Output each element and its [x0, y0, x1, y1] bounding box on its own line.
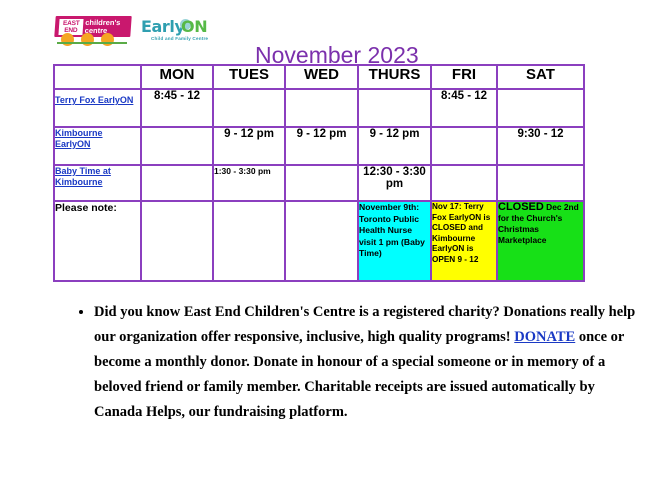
- cell-babytime-sat: [497, 165, 584, 201]
- cell-kimbourne-wed: 9 - 12 pm: [285, 127, 358, 165]
- table-row-notes: Please note: November 9th: Toronto Publi…: [54, 201, 584, 281]
- east-end-childrens-centre-logo: EAST END children's centre: [55, 16, 131, 46]
- logo-dot-icon: [101, 33, 114, 46]
- donate-link[interactable]: DONATE: [514, 329, 575, 345]
- logo-dot-icon: [81, 33, 94, 46]
- program-label-terry-fox: Terry Fox EarlyON: [54, 89, 141, 127]
- cell-terryfox-mon: 8:45 - 12: [141, 89, 213, 127]
- earlyon-on-text: ON: [181, 17, 207, 36]
- cell-babytime-mon: [141, 165, 213, 201]
- cell-note-mon: [141, 201, 213, 281]
- column-header-tues: TUES: [213, 65, 285, 89]
- cell-kimbourne-tues: 9 - 12 pm: [213, 127, 285, 165]
- cell-terryfox-fri: 8:45 - 12: [431, 89, 497, 127]
- program-link-terry-fox[interactable]: Terry Fox EarlyON: [55, 95, 133, 106]
- calendar-container: MON TUES WED THURS FRI SAT Terry Fox Ear…: [53, 64, 583, 282]
- earlyon-early-text: Early: [141, 17, 185, 36]
- column-header-fri: FRI: [431, 65, 497, 89]
- cell-kimbourne-thurs: 9 - 12 pm: [358, 127, 431, 165]
- earlyon-logo: Early ON Child and Family Centre: [141, 16, 219, 46]
- program-label-kimbourne: Kimbourne EarlyON: [54, 127, 141, 165]
- column-header-sat: SAT: [497, 65, 584, 89]
- cell-babytime-wed: [285, 165, 358, 201]
- cell-terryfox-thurs: [358, 89, 431, 127]
- please-note-label: Please note:: [54, 201, 141, 281]
- bullet-list: Did you know East End Children's Centre …: [72, 300, 642, 425]
- cell-babytime-fri: [431, 165, 497, 201]
- table-row: Baby Time at Kimbourne 1:30 - 3:30 pm 12…: [54, 165, 584, 201]
- note-health-nurse-visit: November 9th: Toronto Public Health Nurs…: [358, 201, 431, 281]
- cell-note-wed: [285, 201, 358, 281]
- list-item: Did you know East End Children's Centre …: [94, 300, 642, 425]
- program-label-baby-time: Baby Time at Kimbourne: [54, 165, 141, 201]
- logo-group: EAST END children's centre Early ON Chil…: [55, 16, 219, 46]
- table-row: Terry Fox EarlyON 8:45 - 12 8:45 - 12: [54, 89, 584, 127]
- table-row: Kimbourne EarlyON 9 - 12 pm 9 - 12 pm 9 …: [54, 127, 584, 165]
- cell-terryfox-sat: [497, 89, 584, 127]
- note-closed-headline: CLOSED: [498, 201, 544, 213]
- column-header-thurs: THURS: [358, 65, 431, 89]
- column-header-wed: WED: [285, 65, 358, 89]
- logo-childrens-centre-text: children's centre: [84, 19, 120, 34]
- column-header-mon: MON: [141, 65, 213, 89]
- table-header-row: MON TUES WED THURS FRI SAT: [54, 65, 584, 89]
- logo-green-baseline: [57, 42, 127, 44]
- logo-dots-decoration: [61, 33, 114, 46]
- program-link-baby-time[interactable]: Baby Time at Kimbourne: [55, 166, 140, 188]
- logo-dot-icon: [61, 33, 74, 46]
- cell-note-tues: [213, 201, 285, 281]
- schedule-table: MON TUES WED THURS FRI SAT Terry Fox Ear…: [53, 64, 585, 282]
- cell-babytime-thurs: 12:30 - 3:30 pm: [358, 165, 431, 201]
- cell-terryfox-tues: [213, 89, 285, 127]
- note-dec-2-closure: CLOSED Dec 2nd for the Church's Christma…: [497, 201, 584, 281]
- note-nov-17-closure: Nov 17: Terry Fox EarlyON is CLOSED and …: [431, 201, 497, 281]
- earlyon-subtitle: Child and Family Centre: [151, 36, 208, 41]
- cell-kimbourne-mon: [141, 127, 213, 165]
- page-header: EAST END children's centre Early ON Chil…: [0, 14, 650, 60]
- cell-kimbourne-sat: 9:30 - 12: [497, 127, 584, 165]
- cell-babytime-tues: 1:30 - 3:30 pm: [213, 165, 285, 201]
- logo-east-text: EAST: [63, 20, 80, 27]
- cell-kimbourne-fri: [431, 127, 497, 165]
- program-link-kimbourne[interactable]: Kimbourne EarlyON: [55, 128, 140, 150]
- donation-message-block: Did you know East End Children's Centre …: [72, 300, 642, 425]
- column-header-blank: [54, 65, 141, 89]
- cell-terryfox-wed: [285, 89, 358, 127]
